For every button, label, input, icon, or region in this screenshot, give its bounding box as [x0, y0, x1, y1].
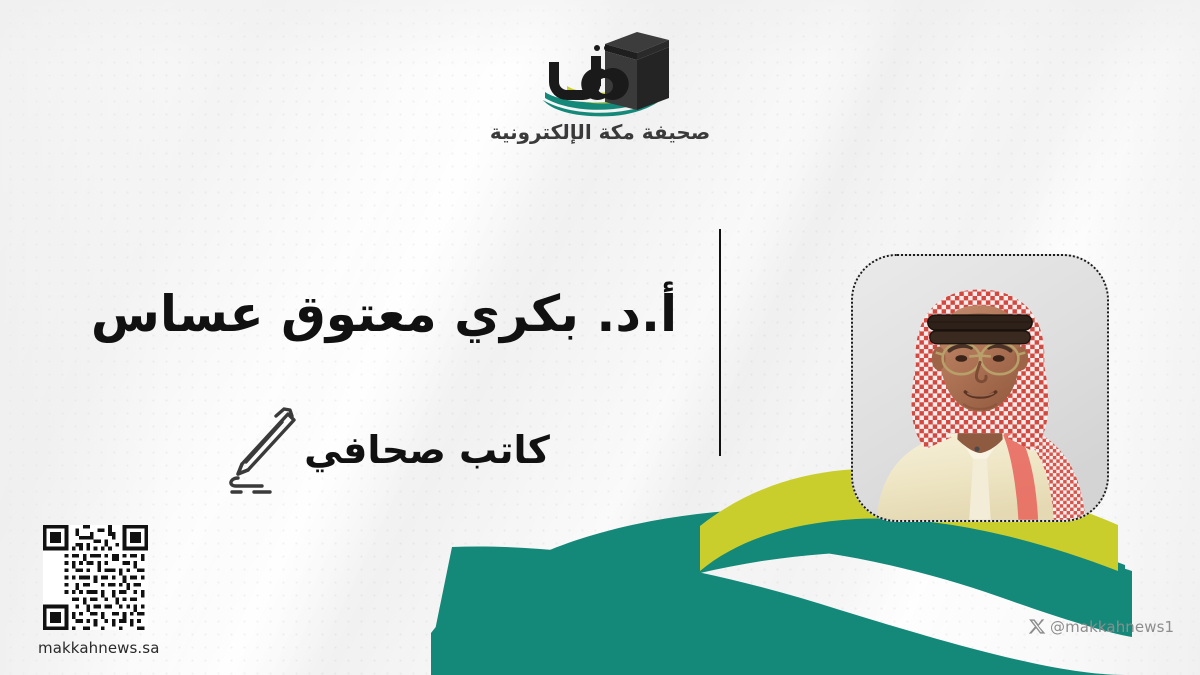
x-twitter-icon[interactable] — [1028, 617, 1047, 636]
author-photo — [851, 254, 1109, 522]
pen-icon — [218, 404, 302, 496]
site-logo[interactable]: صحيفة مكة الإلكترونية — [0, 26, 1200, 142]
author-portrait-illustration — [853, 256, 1107, 520]
social-handle-block[interactable]: @makkahnews1 — [1028, 617, 1174, 636]
social-handle-text: @makkahnews1 — [1050, 618, 1174, 636]
author-role-block: كاتب صحافي — [84, 404, 684, 496]
page-title: أ.د. بكري معتوق عساس — [84, 286, 684, 342]
author-name-block: أ.د. بكري معتوق عساس — [84, 286, 684, 342]
logo-tagline: صحيفة مكة الإلكترونية — [490, 122, 710, 142]
qr-block[interactable]: makkahnews.sa — [38, 525, 153, 657]
author-card-canvas: صحيفة مكة الإلكترونية أ.د. بكري معتوق عس… — [0, 0, 1200, 675]
qr-code-icon[interactable] — [43, 525, 148, 630]
vertical-divider — [719, 229, 721, 456]
author-role-label: كاتب صحافي — [304, 431, 550, 469]
qr-caption: makkahnews.sa — [38, 639, 153, 657]
kaaba-icon — [505, 26, 695, 118]
